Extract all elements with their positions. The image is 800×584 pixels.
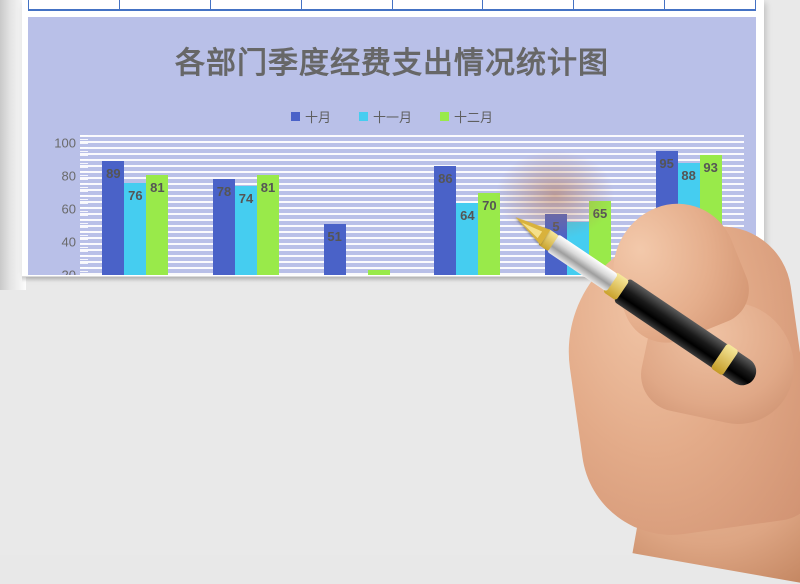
y-axis-tick-label: 40 (62, 235, 76, 250)
bar[interactable]: 93 (700, 155, 722, 275)
legend-entry[interactable]: 十一月 (359, 107, 412, 126)
spreadsheet-cell[interactable] (301, 0, 392, 11)
bar-value-label: 88 (681, 168, 695, 183)
bar-value-label: 76 (128, 188, 142, 203)
legend-entry[interactable]: 十月 (291, 107, 331, 126)
bar-value-label: 93 (703, 160, 717, 175)
legend-label: 十二月 (454, 107, 493, 126)
bar[interactable]: 81 (257, 175, 279, 275)
bar-group[interactable]: 958893 (656, 135, 722, 275)
bar[interactable]: 64 (456, 203, 478, 275)
bar[interactable]: 70 (478, 193, 500, 275)
bar-value-label: 51 (327, 229, 341, 244)
bar[interactable]: 76 (124, 183, 146, 275)
bar[interactable]: 51 (324, 224, 346, 275)
bar[interactable]: 86 (434, 166, 456, 275)
bar[interactable]: 88 (678, 163, 700, 275)
bar-value-label: 78 (217, 184, 231, 199)
bar-value-label: 89 (106, 166, 120, 181)
bar[interactable]: 89 (102, 161, 124, 275)
spreadsheet-cell[interactable] (119, 0, 210, 11)
pen-barrel (613, 278, 761, 391)
bar-group[interactable]: 51 (324, 135, 390, 275)
bar[interactable]: 5 (545, 214, 567, 275)
y-axis-tick-label: 100 (54, 136, 76, 151)
pen-ring-rear (711, 343, 739, 376)
legend-swatch-icon (359, 112, 368, 121)
bar-value-label: 70 (482, 198, 496, 213)
chart-panel[interactable]: 各部门季度经费支出情况统计图 十月十一月十二月 10080604020 8976… (28, 17, 756, 275)
bar-group[interactable]: 787481 (213, 135, 279, 275)
spreadsheet-cell[interactable] (482, 0, 573, 11)
legend-label: 十一月 (373, 107, 412, 126)
bar-value-label: 81 (150, 180, 164, 195)
spreadsheet-top-row[interactable] (28, 0, 756, 11)
y-axis-tick-label: 60 (62, 202, 76, 217)
bar-value-label: 86 (438, 171, 452, 186)
legend-entry[interactable]: 十二月 (440, 107, 493, 126)
bars-layer: 89768178748151866470565958893 (80, 135, 744, 275)
spreadsheet-cell[interactable] (28, 0, 119, 11)
spreadsheet-cell[interactable] (210, 0, 301, 11)
bar[interactable]: 78 (213, 179, 235, 275)
bar[interactable]: 65 (589, 201, 611, 275)
page-surface: 各部门季度经费支出情况统计图 十月十一月十二月 10080604020 8976… (0, 0, 800, 555)
y-axis-tick-label: 20 (62, 268, 76, 276)
spreadsheet-cell[interactable] (664, 0, 756, 11)
bar[interactable] (368, 270, 390, 275)
y-axis-tick-label: 80 (62, 169, 76, 184)
chart-title: 各部门季度经费支出情况统计图 (28, 47, 756, 81)
bar-value-label: 74 (239, 191, 253, 206)
bar[interactable]: 81 (146, 175, 168, 275)
hand-thumb (634, 286, 800, 435)
y-axis: 10080604020 (36, 135, 78, 275)
spreadsheet-cell[interactable] (573, 0, 664, 11)
hand-wrist (632, 396, 800, 584)
chart-legend: 十月十一月十二月 (28, 107, 756, 126)
legend-label: 十月 (305, 107, 331, 126)
bar-value-label: 95 (659, 156, 673, 171)
plot-area: 89768178748151866470565958893 (80, 135, 744, 275)
bar[interactable]: 95 (656, 151, 678, 275)
bar-value-label: 64 (460, 208, 474, 223)
bar[interactable] (567, 222, 589, 275)
bar-group[interactable]: 897681 (102, 135, 168, 275)
bar-value-label: 65 (593, 206, 607, 221)
worksheet-card-drop-shadow (22, 276, 766, 282)
bar[interactable]: 74 (235, 186, 257, 275)
spreadsheet-cell[interactable] (392, 0, 483, 11)
legend-swatch-icon (440, 112, 449, 121)
bar-value-label: 81 (261, 180, 275, 195)
bar-group[interactable]: 565 (545, 135, 611, 275)
legend-swatch-icon (291, 112, 300, 121)
plot-wrapper: 10080604020 8976817874815186647056595889… (28, 135, 756, 275)
bar-value-label: 5 (552, 219, 559, 234)
bar-group[interactable]: 866470 (434, 135, 500, 275)
